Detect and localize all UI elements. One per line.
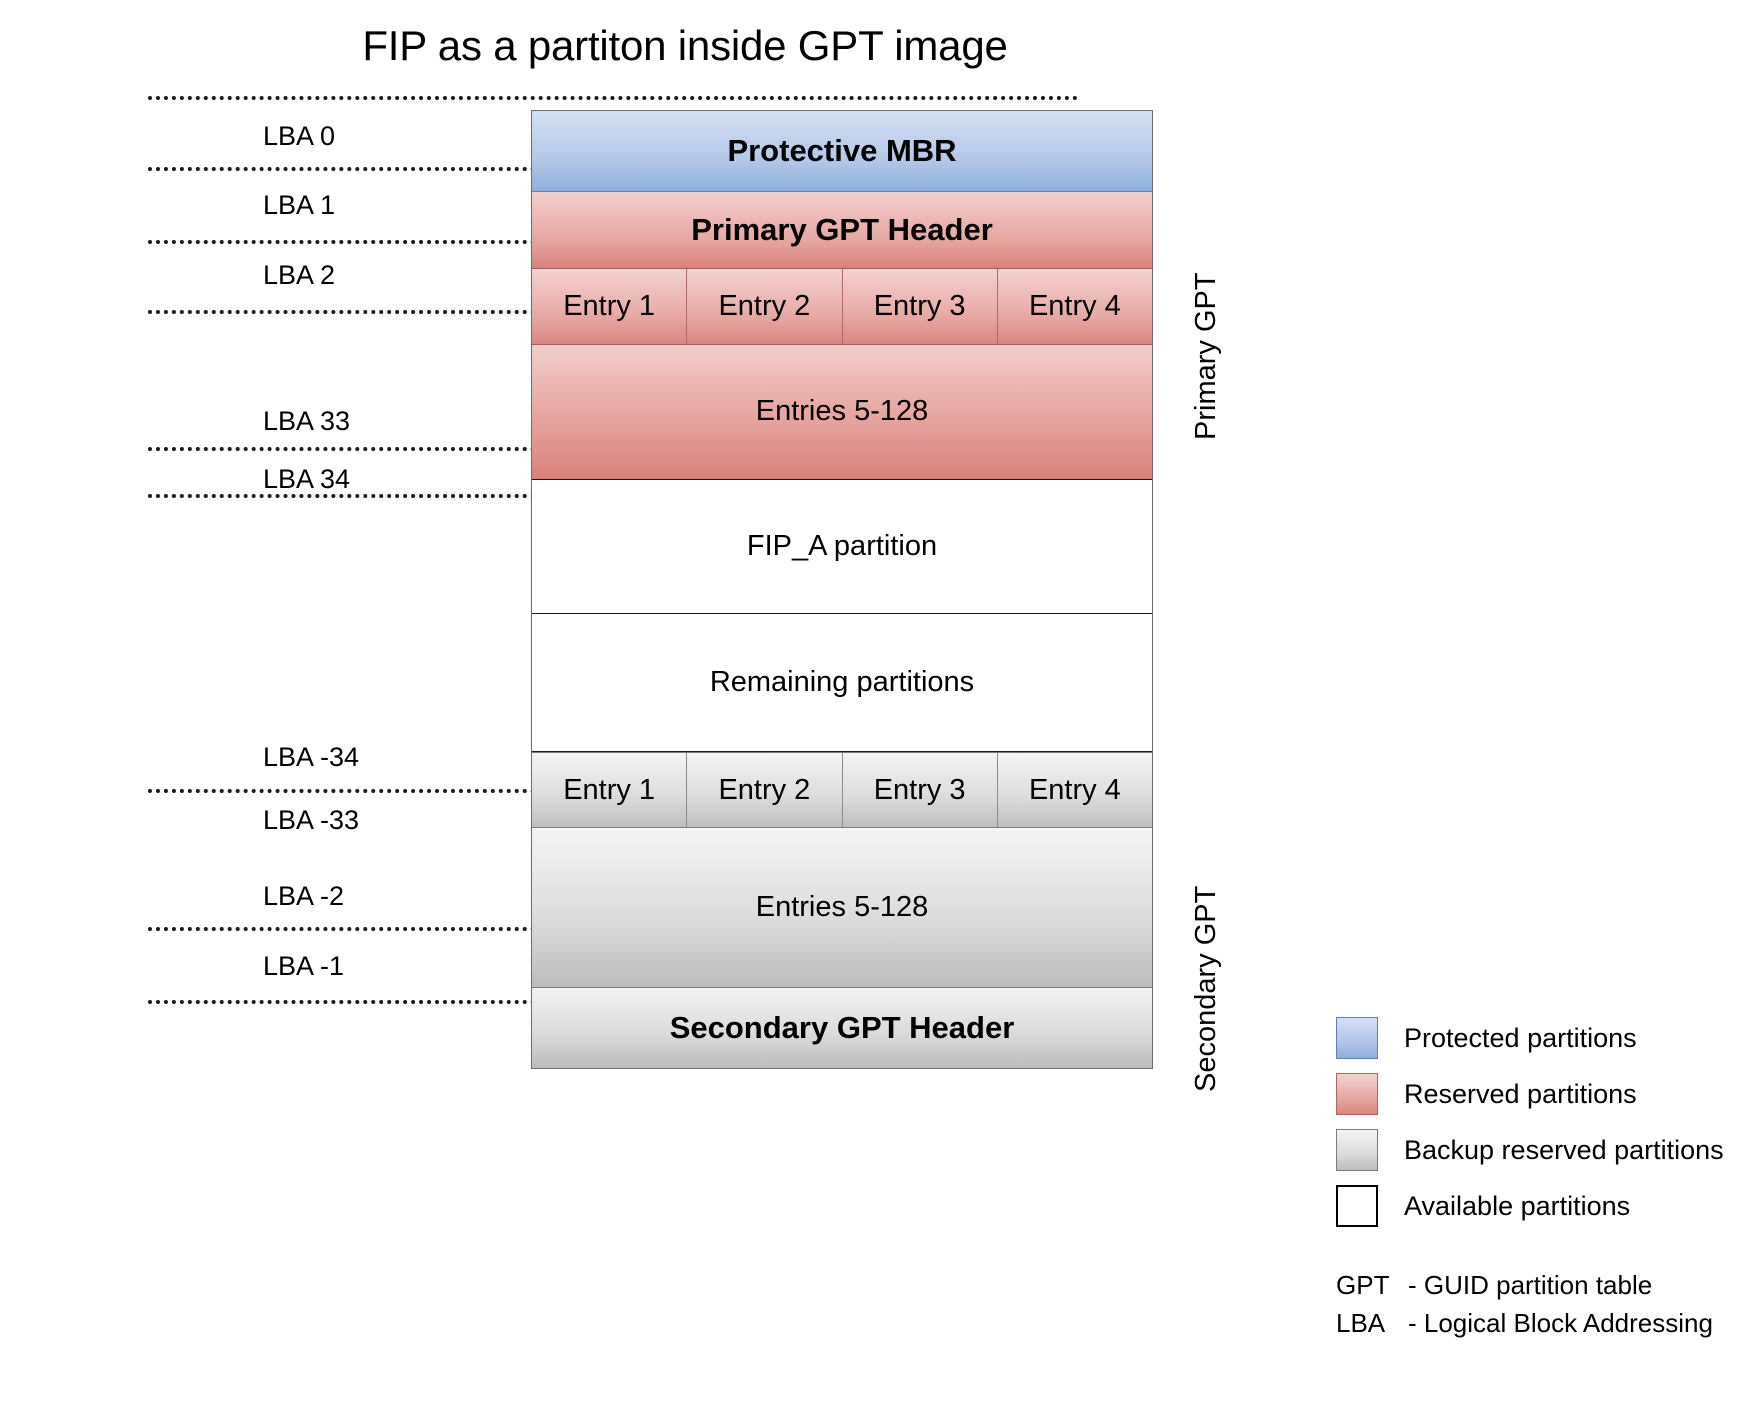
primary-entry-3: Entry 3: [843, 269, 998, 344]
guide-line: [148, 96, 1078, 100]
block-fip-a-partition: FIP_A partition: [532, 479, 1152, 614]
legend-label-reserved: Reserved partitions: [1404, 1079, 1637, 1110]
block-primary-entries-bulk: Entries 5-128: [532, 345, 1152, 479]
lba-label-n2: LBA -2: [263, 883, 344, 910]
block-secondary-entries-bulk-label: Entries 5-128: [756, 891, 929, 924]
lba-label-33: LBA 33: [263, 408, 350, 435]
legend-label-available: Available partitions: [1404, 1191, 1630, 1222]
gpt-layout-stack: Protective MBR Primary GPT Header Entry …: [531, 110, 1153, 1069]
block-secondary-gpt-header: Secondary GPT Header: [532, 988, 1152, 1068]
abbreviation-gpt-value: - GUID partition table: [1408, 1270, 1652, 1301]
lba-label-34: LBA 34: [263, 466, 350, 493]
primary-entry-1: Entry 1: [532, 269, 687, 344]
legend-swatch-backup-reserved-icon: [1336, 1129, 1378, 1171]
block-primary-gpt-header: Primary GPT Header: [532, 192, 1152, 269]
legend-swatch-protected-icon: [1336, 1017, 1378, 1059]
secondary-entry-2: Entry 2: [687, 753, 842, 827]
legend-swatch-available-icon: [1336, 1185, 1378, 1227]
block-remaining-partitions: Remaining partitions: [532, 614, 1152, 752]
lba-label-2: LBA 2: [263, 262, 335, 289]
primary-entry-2: Entry 2: [687, 269, 842, 344]
abbreviations: GPT - GUID partition table LBA - Logical…: [1336, 1270, 1736, 1346]
legend: Protected partitions Reserved partitions…: [1336, 1010, 1736, 1234]
side-label-primary-gpt: Primary GPT: [1192, 272, 1221, 440]
secondary-entry-1: Entry 1: [532, 753, 687, 827]
legend-label-protected: Protected partitions: [1404, 1023, 1637, 1054]
block-fip-a-partition-label: FIP_A partition: [747, 530, 937, 563]
lba-label-n34: LBA -34: [263, 744, 359, 771]
lba-label-1: LBA 1: [263, 192, 335, 219]
block-protective-mbr: Protective MBR: [532, 111, 1152, 192]
abbreviation-lba-value: - Logical Block Addressing: [1408, 1308, 1713, 1339]
legend-label-backup-reserved: Backup reserved partitions: [1404, 1135, 1724, 1166]
block-protective-mbr-label: Protective MBR: [727, 133, 956, 169]
page-title: FIP as a partiton inside GPT image: [0, 22, 1370, 70]
block-primary-gpt-header-label: Primary GPT Header: [691, 212, 993, 248]
secondary-entries-row: Entry 1 Entry 2 Entry 3 Entry 4: [532, 752, 1152, 828]
abbreviation-gpt-key: GPT: [1336, 1270, 1408, 1301]
lba-label-n1: LBA -1: [263, 953, 344, 980]
block-remaining-partitions-label: Remaining partitions: [710, 666, 974, 699]
abbreviation-lba-key: LBA: [1336, 1308, 1408, 1339]
block-primary-entries-bulk-label: Entries 5-128: [756, 395, 929, 428]
block-secondary-entries-bulk: Entries 5-128: [532, 828, 1152, 988]
abbreviation-lba: LBA - Logical Block Addressing: [1336, 1308, 1736, 1346]
secondary-entry-4: Entry 4: [998, 753, 1152, 827]
legend-item-protected: Protected partitions: [1336, 1010, 1736, 1066]
legend-item-reserved: Reserved partitions: [1336, 1066, 1736, 1122]
legend-item-available: Available partitions: [1336, 1178, 1736, 1234]
block-secondary-gpt-header-label: Secondary GPT Header: [670, 1010, 1015, 1046]
legend-item-backup-reserved: Backup reserved partitions: [1336, 1122, 1736, 1178]
lba-label-n33: LBA -33: [263, 807, 359, 834]
primary-entries-row: Entry 1 Entry 2 Entry 3 Entry 4: [532, 269, 1152, 345]
primary-entry-4: Entry 4: [998, 269, 1152, 344]
abbreviation-gpt: GPT - GUID partition table: [1336, 1270, 1736, 1308]
legend-swatch-reserved-icon: [1336, 1073, 1378, 1115]
secondary-entry-3: Entry 3: [843, 753, 998, 827]
side-label-secondary-gpt: Secondary GPT: [1192, 886, 1221, 1092]
lba-label-0: LBA 0: [263, 123, 335, 150]
